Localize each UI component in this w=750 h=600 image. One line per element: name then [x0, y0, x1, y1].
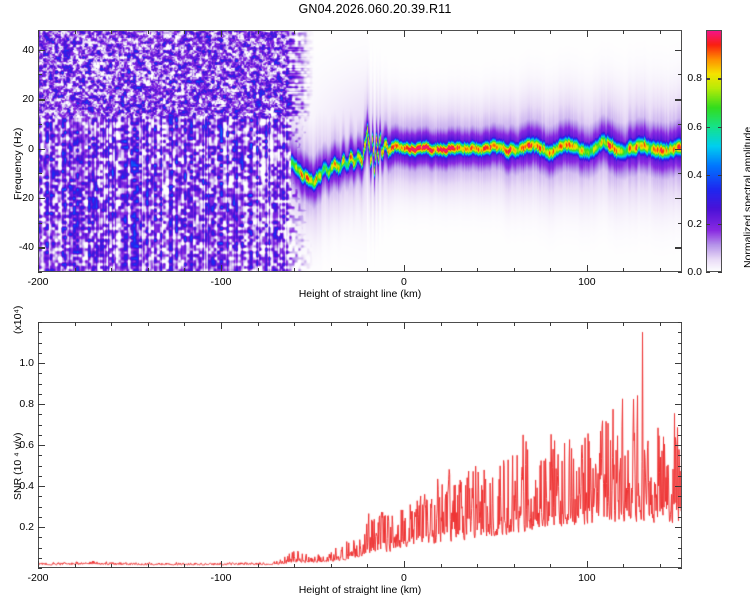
- y-major-tick-right: [675, 99, 682, 100]
- y-major-tick: [38, 527, 45, 528]
- x-minor-tick: [514, 268, 515, 272]
- x-minor-tick-top: [660, 30, 661, 34]
- y-minor-tick: [38, 124, 42, 125]
- x-minor-tick: [184, 268, 185, 272]
- x-major-tick-top: [38, 30, 39, 37]
- x-minor-tick: [111, 268, 112, 272]
- y-minor-tick: [38, 223, 42, 224]
- y-minor-tick: [38, 517, 42, 518]
- y-minor-tick: [38, 476, 42, 477]
- snr-y-tick-label: 0.2: [4, 521, 34, 533]
- snr-x-tick-label: 0: [401, 572, 407, 584]
- colorbar-tick: [706, 272, 710, 273]
- x-minor-tick-top: [111, 322, 112, 326]
- y-minor-tick: [38, 74, 42, 75]
- x-major-tick-top: [587, 30, 588, 37]
- x-minor-tick-top: [148, 322, 149, 326]
- x-major-tick: [38, 561, 39, 568]
- x-major-tick: [221, 265, 222, 272]
- y-major-tick-right: [675, 445, 682, 446]
- y-minor-tick-right: [678, 496, 682, 497]
- y-minor-tick-right: [678, 548, 682, 549]
- spectrogram-y-tick-label: 20: [4, 93, 34, 105]
- y-minor-tick: [38, 414, 42, 415]
- y-minor-tick-right: [678, 455, 682, 456]
- snr-canvas: [38, 322, 682, 568]
- x-minor-tick: [367, 564, 368, 568]
- y-major-tick: [38, 198, 45, 199]
- figure-title: GN04.2026.060.20.39.R11: [0, 2, 750, 16]
- x-minor-tick: [331, 268, 332, 272]
- x-major-tick-top: [221, 30, 222, 37]
- x-minor-tick-top: [550, 322, 551, 326]
- x-minor-tick-top: [623, 322, 624, 326]
- x-minor-tick-top: [623, 30, 624, 34]
- x-minor-tick: [148, 268, 149, 272]
- y-minor-tick: [38, 272, 42, 273]
- x-minor-tick: [623, 564, 624, 568]
- y-minor-tick: [38, 425, 42, 426]
- x-minor-tick-top: [367, 322, 368, 326]
- figure-root: GN04.2026.060.20.39.R11 -200-1000100-40-…: [0, 0, 750, 600]
- colorbar-title: Normalized spectral amplitude: [742, 127, 750, 268]
- snr-y-tick-label: 1.0: [4, 357, 34, 369]
- x-major-tick: [587, 265, 588, 272]
- y-major-tick: [38, 149, 45, 150]
- y-minor-tick: [38, 384, 42, 385]
- x-minor-tick: [623, 268, 624, 272]
- y-minor-tick-right: [678, 507, 682, 508]
- x-minor-tick-top: [75, 322, 76, 326]
- x-minor-tick: [258, 564, 259, 568]
- x-minor-tick: [331, 564, 332, 568]
- y-minor-tick-right: [678, 322, 682, 323]
- x-minor-tick-top: [331, 30, 332, 34]
- y-minor-tick: [38, 537, 42, 538]
- x-minor-tick-top: [550, 30, 551, 34]
- x-minor-tick: [75, 268, 76, 272]
- x-minor-tick: [550, 268, 551, 272]
- y-major-tick-right: [675, 50, 682, 51]
- x-minor-tick: [294, 268, 295, 272]
- colorbar-tick-label: 0.0: [678, 266, 702, 278]
- x-minor-tick-top: [441, 322, 442, 326]
- x-minor-tick: [75, 564, 76, 568]
- colorbar-tick: [706, 127, 710, 128]
- y-minor-tick-right: [678, 394, 682, 395]
- y-minor-tick-right: [678, 373, 682, 374]
- y-major-tick-right: [675, 486, 682, 487]
- x-minor-tick-top: [514, 30, 515, 34]
- y-major-tick: [38, 363, 45, 364]
- colorbar-tick-right: [718, 272, 722, 273]
- x-major-tick: [38, 265, 39, 272]
- y-minor-tick: [38, 466, 42, 467]
- y-minor-tick-right: [678, 476, 682, 477]
- x-minor-tick-top: [294, 30, 295, 34]
- y-minor-tick: [38, 496, 42, 497]
- x-major-tick: [221, 561, 222, 568]
- y-minor-tick-right: [678, 537, 682, 538]
- snr-x-tick-label: -100: [210, 572, 231, 584]
- x-minor-tick-top: [441, 30, 442, 34]
- x-major-tick-top: [404, 30, 405, 37]
- x-minor-tick: [514, 564, 515, 568]
- x-minor-tick-top: [111, 30, 112, 34]
- y-major-tick-right: [675, 527, 682, 528]
- spectrogram-y-tick-label: 40: [4, 44, 34, 56]
- y-major-tick-right: [675, 198, 682, 199]
- spectrogram-canvas: [38, 30, 682, 272]
- x-minor-tick-top: [184, 322, 185, 326]
- spectrogram-y-tick-label: -40: [4, 241, 34, 253]
- spectrogram-y-axis-title: Frequency (Hz): [12, 128, 24, 200]
- spectrogram-x-tick-label: 0: [401, 276, 407, 288]
- y-minor-tick: [38, 343, 42, 344]
- x-minor-tick: [441, 268, 442, 272]
- x-minor-tick-top: [184, 30, 185, 34]
- colorbar-tick-right: [718, 224, 722, 225]
- y-minor-tick: [38, 568, 42, 569]
- y-minor-tick: [38, 548, 42, 549]
- y-minor-tick-right: [678, 568, 682, 569]
- x-major-tick-top: [587, 322, 588, 329]
- snr-x-tick-label: -200: [27, 572, 48, 584]
- y-minor-tick: [38, 507, 42, 508]
- y-major-tick-right: [675, 247, 682, 248]
- x-minor-tick-top: [75, 30, 76, 34]
- x-minor-tick: [660, 564, 661, 568]
- y-minor-tick-right: [678, 425, 682, 426]
- y-minor-tick: [38, 394, 42, 395]
- x-minor-tick: [477, 564, 478, 568]
- x-minor-tick-top: [258, 30, 259, 34]
- x-minor-tick-top: [294, 322, 295, 326]
- y-minor-tick: [38, 558, 42, 559]
- x-minor-tick-top: [477, 30, 478, 34]
- y-minor-tick-right: [678, 517, 682, 518]
- x-minor-tick-top: [258, 322, 259, 326]
- y-minor-tick-right: [678, 558, 682, 559]
- x-minor-tick: [294, 564, 295, 568]
- y-minor-tick-right: [678, 343, 682, 344]
- y-major-tick-right: [675, 404, 682, 405]
- snr-y-axis-title: SNR (10 ⁴ v/v): [12, 432, 24, 500]
- colorbar-tick: [706, 78, 710, 79]
- colorbar-gradient: [706, 30, 722, 272]
- y-minor-tick-right: [678, 466, 682, 467]
- y-minor-tick-right: [678, 414, 682, 415]
- x-minor-tick-top: [331, 322, 332, 326]
- colorbar-tick-right: [718, 175, 722, 176]
- y-major-tick: [38, 404, 45, 405]
- y-minor-tick: [38, 455, 42, 456]
- x-major-tick-top: [221, 322, 222, 329]
- colorbar-tick: [706, 175, 710, 176]
- y-minor-tick: [38, 332, 42, 333]
- x-major-tick-top: [38, 322, 39, 329]
- colorbar-tick-label: 0.8: [678, 72, 702, 84]
- x-minor-tick: [441, 564, 442, 568]
- x-minor-tick-top: [367, 30, 368, 34]
- y-minor-tick-right: [678, 384, 682, 385]
- y-minor-tick: [38, 435, 42, 436]
- colorbar-tick: [706, 224, 710, 225]
- snr-y-tick-label: 0.8: [4, 398, 34, 410]
- y-minor-tick: [38, 373, 42, 374]
- y-minor-tick: [38, 173, 42, 174]
- y-minor-tick: [38, 353, 42, 354]
- snr-x-tick-label: 100: [578, 572, 596, 584]
- x-minor-tick: [111, 564, 112, 568]
- x-minor-tick: [148, 564, 149, 568]
- colorbar-tick-label: 0.2: [678, 218, 702, 230]
- y-major-tick: [38, 50, 45, 51]
- y-major-tick: [38, 486, 45, 487]
- colorbar-tick-label: 0.6: [678, 121, 702, 133]
- y-major-tick: [38, 247, 45, 248]
- y-minor-tick-right: [678, 332, 682, 333]
- colorbar-tick-label: 0.4: [678, 169, 702, 181]
- snr-x-axis-title: Height of straight line (km): [299, 584, 422, 596]
- y-minor-tick-right: [678, 353, 682, 354]
- colorbar-tick-right: [718, 127, 722, 128]
- x-major-tick: [404, 265, 405, 272]
- spectrogram-x-axis-title: Height of straight line (km): [299, 288, 422, 300]
- x-major-tick: [587, 561, 588, 568]
- colorbar-tick-right: [718, 78, 722, 79]
- x-minor-tick-top: [148, 30, 149, 34]
- x-minor-tick: [184, 564, 185, 568]
- y-major-tick: [38, 99, 45, 100]
- x-minor-tick: [367, 268, 368, 272]
- y-major-tick-right: [675, 363, 682, 364]
- y-minor-tick-right: [678, 435, 682, 436]
- snr-y-exponent-label: (x10⁴): [12, 306, 24, 334]
- x-minor-tick-top: [477, 322, 478, 326]
- spectrogram-x-tick-label: -200: [27, 276, 48, 288]
- spectrogram-x-tick-label: -100: [210, 276, 231, 288]
- y-major-tick-right: [675, 149, 682, 150]
- x-major-tick-top: [404, 322, 405, 329]
- x-minor-tick-top: [660, 322, 661, 326]
- x-minor-tick: [258, 268, 259, 272]
- y-minor-tick: [38, 322, 42, 323]
- x-minor-tick: [660, 268, 661, 272]
- y-major-tick: [38, 445, 45, 446]
- spectrogram-x-tick-label: 100: [578, 276, 596, 288]
- x-major-tick: [404, 561, 405, 568]
- x-minor-tick: [550, 564, 551, 568]
- x-minor-tick: [477, 268, 478, 272]
- x-minor-tick-top: [514, 322, 515, 326]
